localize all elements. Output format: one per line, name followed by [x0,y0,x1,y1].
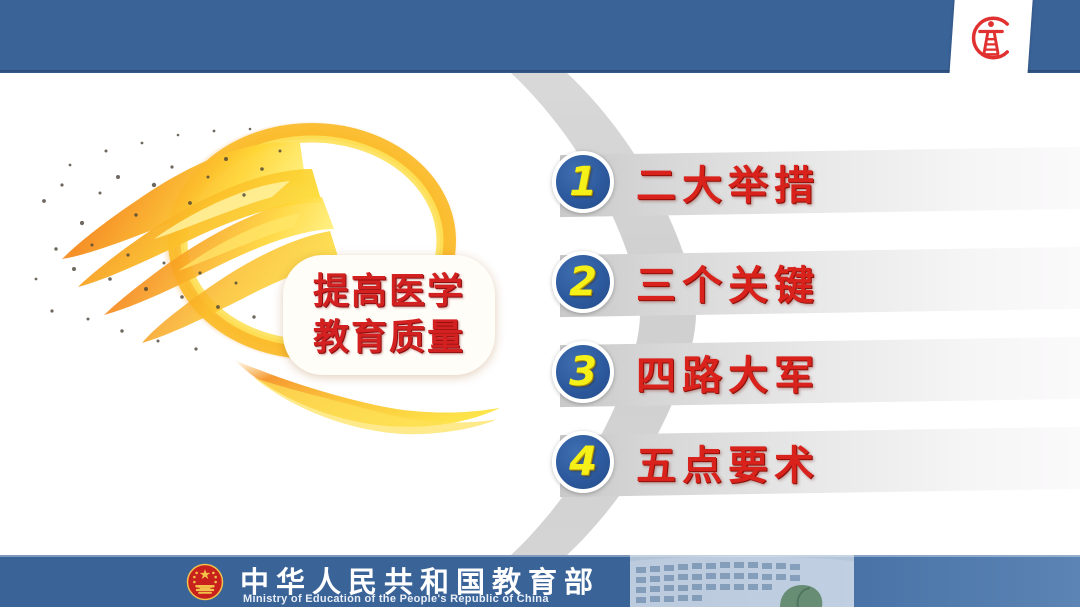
list-item[interactable]: 2 三个关键 [520,251,1080,313]
institution-tower-emblem-icon [962,9,1020,67]
list-item-number: 1 [569,162,597,202]
footer-band: 中华人民共和国教育部 Ministry of Education of the … [0,555,1080,607]
hero-label: 提高医学 教育质量 [283,255,495,375]
list-item-label: 五点要术 [636,433,820,491]
list-item-number-badge: 3 [552,341,614,403]
footer-title-en: Ministry of Education of the People's Re… [243,593,549,605]
slide-root: 提高医学 教育质量 1 二大举措 2 三个关键 [0,0,1080,607]
footer-top-divider [0,555,1080,557]
header-band [0,0,1080,73]
list-item-number: 4 [569,442,597,482]
building-photo-icon [630,555,854,607]
china-national-emblem-icon [186,563,224,601]
slide-body: 提高医学 教育质量 1 二大举措 2 三个关键 [0,73,1080,555]
list-item[interactable]: 1 二大举措 [520,151,1080,213]
list-item-number-badge: 4 [552,431,614,493]
list-item-label: 二大举措 [636,153,820,211]
government-building-photo [630,555,854,607]
list-item-number: 2 [569,262,597,302]
list-item-label: 三个关键 [636,253,820,311]
list-item-number-badge: 1 [552,151,614,213]
numbered-list: 1 二大举措 2 三个关键 3 四路大军 [0,73,1080,555]
hero-label-line-2: 教育质量 [313,315,465,361]
list-item[interactable]: 4 五点要术 [520,431,1080,493]
list-item-number-badge: 2 [552,251,614,313]
hero-label-line-1: 提高医学 [313,269,465,315]
institution-logo [956,6,1026,70]
list-item-number: 3 [569,352,597,392]
list-item-label: 四路大军 [636,343,820,401]
list-item[interactable]: 3 四路大军 [520,341,1080,403]
